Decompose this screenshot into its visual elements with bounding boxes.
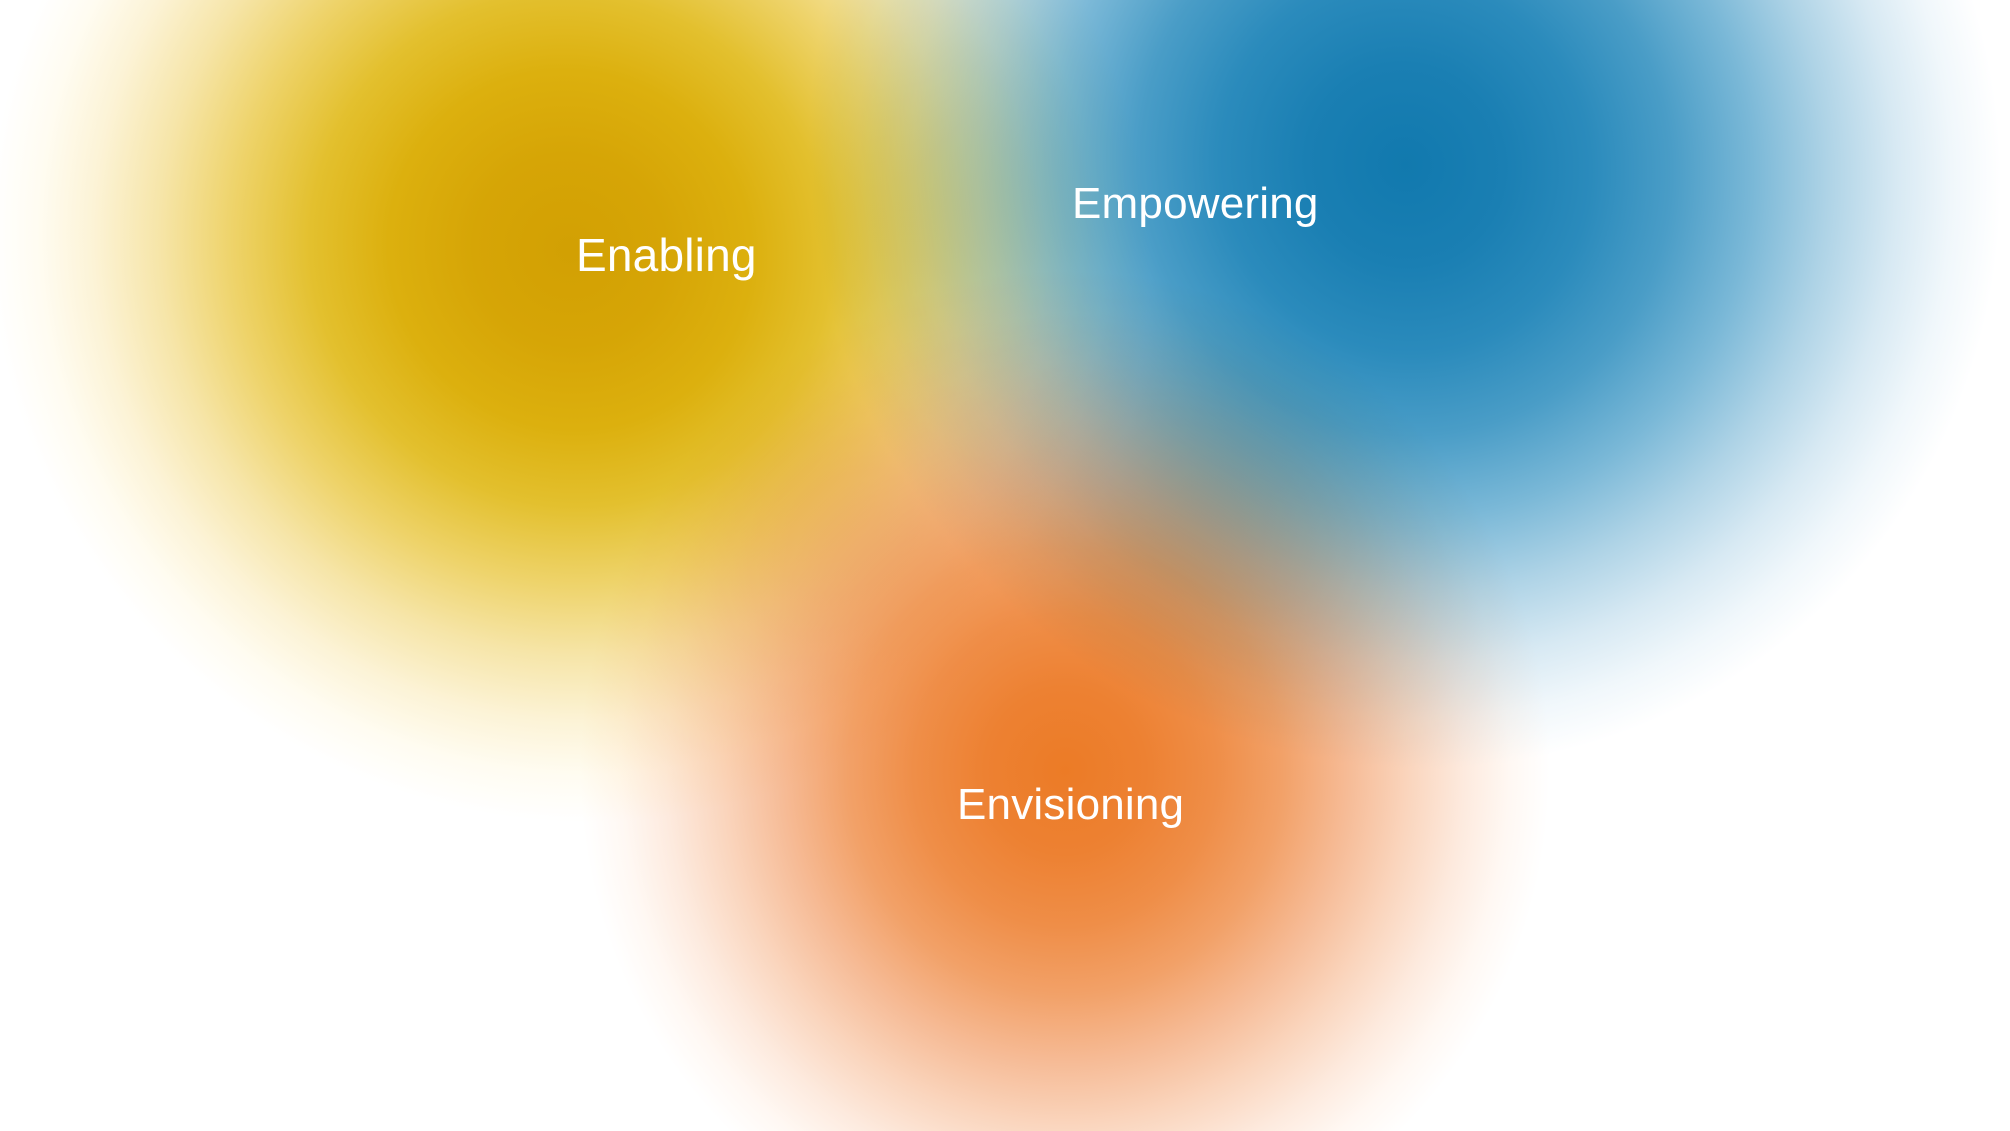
blob-enabling xyxy=(0,0,1406,1080)
label-envisioning: Envisioning xyxy=(957,783,1184,827)
diagram-canvas: Enabling Empowering Envisioning xyxy=(0,0,2010,1131)
gradient-blob-layer xyxy=(0,0,2010,1131)
label-empowering: Empowering xyxy=(1072,182,1319,226)
label-enabling: Enabling xyxy=(576,232,757,278)
blob-empowering xyxy=(540,0,2010,1035)
blob-envisioning xyxy=(560,250,1570,1131)
